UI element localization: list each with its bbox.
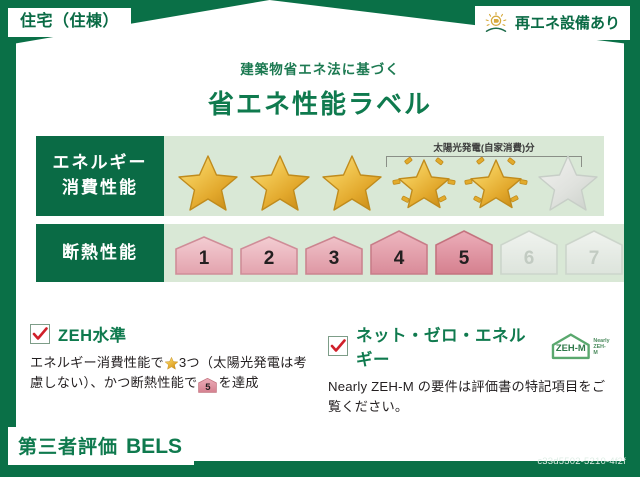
renewable-equipment-badge: 再エネ設備あり xyxy=(475,6,630,40)
insulation-badge-7-label: 7 xyxy=(589,249,600,276)
evaluation-date: 評価日 2025年4月25日 xyxy=(479,433,626,453)
star-3 xyxy=(318,150,386,214)
inline-insulation-badge-5-label: 5 xyxy=(198,378,217,397)
insulation-performance-row: 断熱性能 1 xyxy=(36,224,604,282)
cert-zeh-body-post: を達成 xyxy=(218,375,258,390)
cert-zeh-body-pre: エネルギー消費性能で xyxy=(30,355,164,370)
insulation-badge-5: 5 xyxy=(434,230,494,276)
page-title: 省エネ性能ラベル xyxy=(0,84,640,121)
title-block: 建築物省エネ法に基づく 省エネ性能ラベル xyxy=(0,58,640,121)
certifications-section: ZEH水準 エネルギー消費性能で 3つ（太陽光発電は考慮しない）、かつ断熱性能で… xyxy=(30,322,610,418)
cert-zeh-standard-title: ZEH水準 xyxy=(58,322,127,346)
insulation-badge-2-label: 2 xyxy=(264,249,275,276)
bels-jp-label: 第三者評価 xyxy=(18,432,118,459)
inline-insulation-badge-5: 5 xyxy=(198,378,217,393)
sun-solar-icon xyxy=(483,11,509,35)
star-rating xyxy=(164,150,602,214)
cert-zeh-standard-body: エネルギー消費性能で 3つ（太陽光発電は考慮しない）、かつ断熱性能で 5 を達成 xyxy=(30,353,312,394)
zeh-m-sub-line2: ZEH-M xyxy=(593,344,605,356)
cert-net-zero-header: ネット・ゼロ・エネルギー ZEH-M Nearly ZEH-M xyxy=(328,322,610,370)
label-root: 住宅（住棟） 再エネ設備あり 建築物省エネ法に基づく xyxy=(0,0,640,477)
renewable-equipment-label: 再エネ設備あり xyxy=(515,16,620,31)
bels-badge: 第三者評価 BELS xyxy=(8,427,194,465)
checkbox-checked-icon xyxy=(30,324,50,344)
title-subtitle: 建築物省エネ法に基づく xyxy=(0,58,640,78)
energy-label-line1: エネルギー xyxy=(53,151,148,176)
reference-id: c33d5502-5210-4f2f xyxy=(479,456,626,467)
footer: 第三者評価 BELS Le Lien Akane North 評価日 2025年… xyxy=(0,421,640,477)
energy-performance-stars-panel: 太陽光発電(自家消費)分 xyxy=(164,136,604,216)
inline-star-icon xyxy=(164,356,179,371)
star-6-empty xyxy=(534,150,602,214)
energy-label-line2: 消費性能 xyxy=(62,176,138,201)
cert-net-zero-energy: ネット・ゼロ・エネルギー ZEH-M Nearly ZEH-M Nearly Z… xyxy=(328,322,610,418)
insulation-badge-5-label: 5 xyxy=(459,249,470,276)
insulation-badge-6: 6 xyxy=(499,230,559,276)
insulation-badge-6-label: 6 xyxy=(524,249,535,276)
svg-text:ZEH-M: ZEH-M xyxy=(556,342,586,353)
energy-performance-row: エネルギー 消費性能 太陽光発電(自家消費)分 xyxy=(36,136,604,216)
cert-zeh-standard-header: ZEH水準 xyxy=(30,322,312,346)
insulation-badge-1-label: 1 xyxy=(199,249,210,276)
building-type-label: 住宅（住棟） xyxy=(20,13,119,30)
insulation-badge-1: 1 xyxy=(174,236,234,276)
insulation-badge-2: 2 xyxy=(239,236,299,276)
insulation-badge-3: 3 xyxy=(304,236,364,276)
bels-en-label: BELS xyxy=(126,435,182,459)
ratings-section: エネルギー 消費性能 太陽光発電(自家消費)分 xyxy=(36,136,604,282)
checkbox-checked-icon xyxy=(328,336,348,356)
star-2 xyxy=(246,150,314,214)
star-5-solar xyxy=(462,150,530,214)
insulation-badge-4: 4 xyxy=(369,230,429,276)
star-4-solar xyxy=(390,150,458,214)
cert-zeh-standard: ZEH水準 エネルギー消費性能で 3つ（太陽光発電は考慮しない）、かつ断熱性能で… xyxy=(30,322,312,418)
insulation-performance-label: 断熱性能 xyxy=(36,224,164,282)
insulation-badge-3-label: 3 xyxy=(329,249,340,276)
building-type-badge: 住宅（住棟） xyxy=(8,8,131,37)
cert-net-zero-title: ネット・ゼロ・エネルギー xyxy=(356,322,538,370)
energy-performance-label: エネルギー 消費性能 xyxy=(36,136,164,216)
star-1 xyxy=(174,150,242,214)
zeh-m-logo: ZEH-M Nearly ZEH-M xyxy=(550,332,610,360)
evaluation-info: 評価日 2025年4月25日 c33d5502-5210-4f2f xyxy=(479,433,626,467)
building-name: Le Lien Akane North xyxy=(206,444,328,459)
insulation-levels-panel: 1 2 xyxy=(164,224,624,282)
insulation-badge-7: 7 xyxy=(564,230,624,276)
insulation-level-badges: 1 2 xyxy=(164,230,624,276)
zeh-m-logo-subtext: Nearly ZEH-M xyxy=(593,338,610,360)
cert-net-zero-body: Nearly ZEH-M の要件は評価書の特記項目をご覧ください。 xyxy=(328,377,610,418)
insulation-badge-4-label: 4 xyxy=(394,249,405,276)
